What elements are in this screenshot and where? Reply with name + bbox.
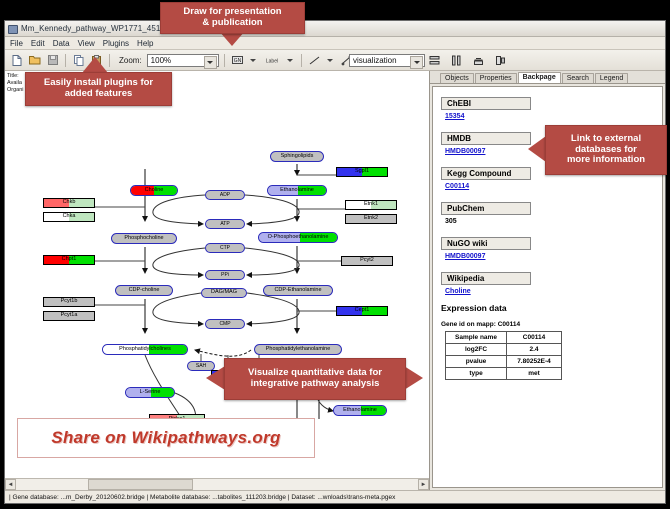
- callout-links-text: Link to external databases for more info…: [567, 134, 645, 167]
- node-label: Phosphocholine: [124, 236, 163, 242]
- metabolite-node-phosphocholine[interactable]: Phosphocholine: [111, 233, 177, 244]
- metabolite-node-ethanolamine[interactable]: Ethanolamine: [267, 185, 327, 196]
- visualization-value: visualization: [353, 56, 397, 65]
- label-dropdown-icon[interactable]: [285, 54, 296, 67]
- expression-data-heading: Expression data: [441, 303, 662, 313]
- expr-key-log2fc: log2FC: [446, 344, 507, 356]
- node-label: Pcyt1b: [61, 299, 78, 305]
- pathway-canvas[interactable]: SphingolipidsEthanolamineO-Phosphoethano…: [5, 71, 429, 478]
- canvas-hscrollbar[interactable]: ◄ ►: [5, 478, 429, 490]
- callout-links-arrow: [528, 136, 546, 162]
- db-link-wikipedia[interactable]: Choline: [445, 288, 662, 295]
- zoom-label: Zoom:: [119, 56, 142, 65]
- gene-node-pcyt1a[interactable]: Pcyt1a: [43, 311, 95, 321]
- gene-node-pcyt2[interactable]: Pcyt2: [341, 256, 393, 266]
- menu-file[interactable]: File: [10, 39, 23, 48]
- pathway-edges: [5, 71, 429, 461]
- node-label: Cept1: [355, 308, 370, 314]
- metabolite-node-cdp-choline[interactable]: CDP-choline: [115, 285, 173, 296]
- callout-share: Share on Wikipathways.org: [17, 418, 315, 458]
- new-file-icon[interactable]: [9, 53, 24, 68]
- node-label: Choline: [145, 188, 164, 194]
- expr-val-pvalue: 7.80252E-4: [507, 356, 562, 368]
- callout-quant-text: Visualize quantitative data for integrat…: [248, 368, 382, 390]
- db-header-kegg: Kegg Compound: [441, 167, 531, 180]
- db-header-nugo: NuGO wiki: [441, 237, 531, 250]
- callout-plugins-arrow: [82, 57, 108, 73]
- expr-val-type: met: [507, 368, 562, 380]
- db-section-wikipedia: Wikipedia Choline: [441, 268, 662, 295]
- metabolite-node-adp[interactable]: ADP: [205, 190, 245, 200]
- metabolite-node-cmp[interactable]: CMP: [205, 319, 245, 329]
- expr-val-log2fc: 2.4: [507, 344, 562, 356]
- menu-data[interactable]: Data: [53, 39, 70, 48]
- metabolite-node-o-phosphoethanolamine[interactable]: O-Phosphoethanolamine: [258, 232, 338, 243]
- distribute-horizontal-icon[interactable]: [449, 53, 464, 68]
- line-icon[interactable]: [307, 53, 322, 68]
- node-label: CDP-Ethanolamine: [274, 288, 321, 294]
- screenshot-root: Mm_Kennedy_pathway_WP1771_45176.gpml Fil…: [0, 0, 670, 509]
- node-label: CMP: [219, 322, 230, 327]
- zoom-value: 100%: [151, 56, 171, 65]
- scroll-right-icon[interactable]: ►: [418, 479, 429, 490]
- label-icon[interactable]: Label: [262, 53, 282, 68]
- node-label: Ethanolamine: [280, 188, 314, 194]
- callout-draw-text: Draw for presentation & publication: [183, 7, 281, 29]
- node-label: Phosphatidylethanolamine: [266, 347, 331, 353]
- expr-key-type: type: [446, 368, 507, 380]
- node-label: Chka: [63, 214, 76, 220]
- node-label: Etnk2: [364, 216, 378, 222]
- order-icon[interactable]: [493, 53, 508, 68]
- node-label: CDP-choline: [129, 288, 160, 294]
- menu-edit[interactable]: Edit: [31, 39, 45, 48]
- toolbar-separator-4: [301, 54, 302, 67]
- callout-plugins: Easily install plugins for added feature…: [25, 72, 172, 106]
- chevron-down-icon[interactable]: [410, 56, 423, 69]
- distribute-vertical-icon[interactable]: [427, 53, 442, 68]
- toolbar-separator-2: [109, 54, 110, 67]
- node-label: PPi: [221, 273, 229, 278]
- node-label: Sgpl1: [355, 169, 369, 175]
- gene-node-chka[interactable]: Chka: [43, 212, 95, 222]
- metabolite-node-phosphatidylethanolamine[interactable]: Phosphatidylethanolamine: [254, 344, 342, 355]
- node-label: L-Serine: [140, 390, 161, 396]
- scroll-left-icon[interactable]: ◄: [5, 479, 16, 490]
- node-label: Pcyt2: [360, 258, 374, 264]
- table-row: Sample name C00114: [446, 332, 562, 344]
- gene-node-chpt1[interactable]: Chpt1: [43, 255, 95, 265]
- db-header-wikipedia: Wikipedia: [441, 272, 531, 285]
- toolbar-separator-3: [224, 54, 225, 67]
- metabolite-node-sphingolipids[interactable]: Sphingolipids: [270, 151, 324, 162]
- side-panel-tabs: Objects Properties Backpage Search Legen…: [430, 71, 665, 84]
- stack-icon[interactable]: [471, 53, 486, 68]
- open-folder-icon[interactable]: [27, 53, 42, 68]
- metabolite-node-ethanolamine[interactable]: Ethanolamine: [333, 405, 387, 416]
- expression-table: Sample name C00114 log2FC 2.4 pvalue 7.8…: [445, 331, 562, 380]
- node-label: ATP: [220, 222, 229, 227]
- tab-objects[interactable]: Objects: [440, 73, 474, 83]
- db-link-nugo[interactable]: HMDB00097: [445, 253, 662, 260]
- db-header-hmdb: HMDB: [441, 132, 531, 145]
- metabolite-node-choline[interactable]: Choline: [130, 185, 178, 196]
- callout-quant-arrow-right: [404, 366, 423, 390]
- hscroll-track[interactable]: [16, 479, 418, 490]
- metabolite-node-dag-mag[interactable]: DAG/MAG: [201, 288, 247, 298]
- pathvisio-icon: [8, 24, 17, 33]
- callout-share-text: Share on Wikipathways.org: [51, 428, 280, 448]
- gene-node-etnk1[interactable]: Etnk1: [345, 200, 397, 210]
- db-value-pubchem: 305: [445, 218, 662, 225]
- svg-text:GN: GN: [233, 58, 241, 64]
- tab-legend[interactable]: Legend: [595, 73, 628, 83]
- node-label: Sphingolipids: [281, 154, 314, 160]
- node-label: Chpt1: [62, 257, 77, 263]
- callout-quant: Visualize quantitative data for integrat…: [224, 358, 406, 400]
- expr-val-sample: C00114: [507, 332, 562, 344]
- menu-bar: File Edit Data View Plugins Help: [5, 37, 665, 50]
- gene-node-chkb[interactable]: Chkb: [43, 198, 95, 208]
- title-bar: Mm_Kennedy_pathway_WP1771_45176.gpml: [5, 21, 665, 37]
- menu-plugins[interactable]: Plugins: [103, 39, 129, 48]
- svg-text:Label: Label: [266, 59, 278, 65]
- metabolite-node-l-serine[interactable]: L-Serine: [125, 387, 175, 398]
- callout-links: Link to external databases for more info…: [545, 125, 667, 175]
- callout-quant-arrow-left: [206, 366, 225, 390]
- hscroll-thumb[interactable]: [88, 479, 193, 490]
- node-label: ADP: [220, 193, 230, 198]
- db-section-pubchem: PubChem 305: [441, 198, 662, 225]
- tab-search[interactable]: Search: [562, 73, 594, 83]
- expr-key-pvalue: pvalue: [446, 356, 507, 368]
- node-label: Etnk1: [364, 202, 378, 208]
- node-label: Pcyt1a: [61, 313, 78, 319]
- table-row: log2FC 2.4: [446, 344, 562, 356]
- db-section-nugo: NuGO wiki HMDB00097: [441, 233, 662, 260]
- callout-plugins-text: Easily install plugins for added feature…: [44, 78, 153, 100]
- node-label: SAH: [196, 364, 206, 369]
- datanode-icon[interactable]: GN: [230, 53, 245, 68]
- visualization-combo[interactable]: visualization: [349, 54, 425, 67]
- gene-node-cept1[interactable]: Cept1: [336, 306, 388, 316]
- status-text: | Gene database: ...m_Derby_20120602.bri…: [9, 494, 395, 501]
- gene-node-pcyt1b[interactable]: Pcyt1b: [43, 297, 95, 307]
- zoom-combo[interactable]: 100%: [147, 54, 219, 67]
- expr-key-sample: Sample name: [446, 332, 507, 344]
- metabolite-node-cdp-ethanolamine[interactable]: CDP-Ethanolamine: [263, 285, 333, 296]
- gene-node-sgpl1[interactable]: Sgpl1: [336, 167, 388, 177]
- db-header-chebi: ChEBI: [441, 97, 531, 110]
- menu-view[interactable]: View: [78, 39, 95, 48]
- save-icon[interactable]: [45, 53, 60, 68]
- datanode-dropdown-icon[interactable]: [248, 54, 259, 67]
- gene-id-on-mapp: Gene id on mapp: C00114: [441, 321, 662, 328]
- table-row: pvalue 7.80252E-4: [446, 356, 562, 368]
- node-label: O-Phosphoethanolamine: [268, 235, 329, 241]
- node-label: Phosphatidylcholines: [119, 347, 171, 353]
- node-label: CTP: [220, 246, 230, 251]
- metabolite-node-ppi[interactable]: PPi: [205, 270, 245, 280]
- node-label: DAG/MAG: [211, 290, 237, 296]
- metabolite-node-ctp[interactable]: CTP: [205, 243, 245, 253]
- db-link-kegg[interactable]: C00114: [445, 183, 662, 190]
- metabolite-node-atp[interactable]: ATP: [205, 219, 245, 229]
- callout-draw: Draw for presentation & publication: [160, 2, 305, 34]
- tab-properties[interactable]: Properties: [475, 73, 517, 83]
- node-label: Chkb: [63, 200, 76, 206]
- node-label: Ethanolamine: [343, 408, 377, 414]
- table-row: type met: [446, 368, 562, 380]
- metabolite-node-phosphatidylcholines[interactable]: Phosphatidylcholines: [102, 344, 188, 355]
- status-bar: | Gene database: ...m_Derby_20120602.bri…: [5, 490, 665, 503]
- gene-node-etnk2[interactable]: Etnk2: [345, 214, 397, 224]
- db-link-chebi[interactable]: 15354: [445, 113, 662, 120]
- toolbar-separator-1: [65, 54, 66, 67]
- db-section-chebi: ChEBI 15354: [441, 93, 662, 120]
- line-dropdown-icon[interactable]: [325, 54, 336, 67]
- chevron-down-icon[interactable]: [204, 56, 217, 69]
- db-header-pubchem: PubChem: [441, 202, 531, 215]
- menu-help[interactable]: Help: [137, 39, 153, 48]
- tab-backpage[interactable]: Backpage: [518, 72, 561, 83]
